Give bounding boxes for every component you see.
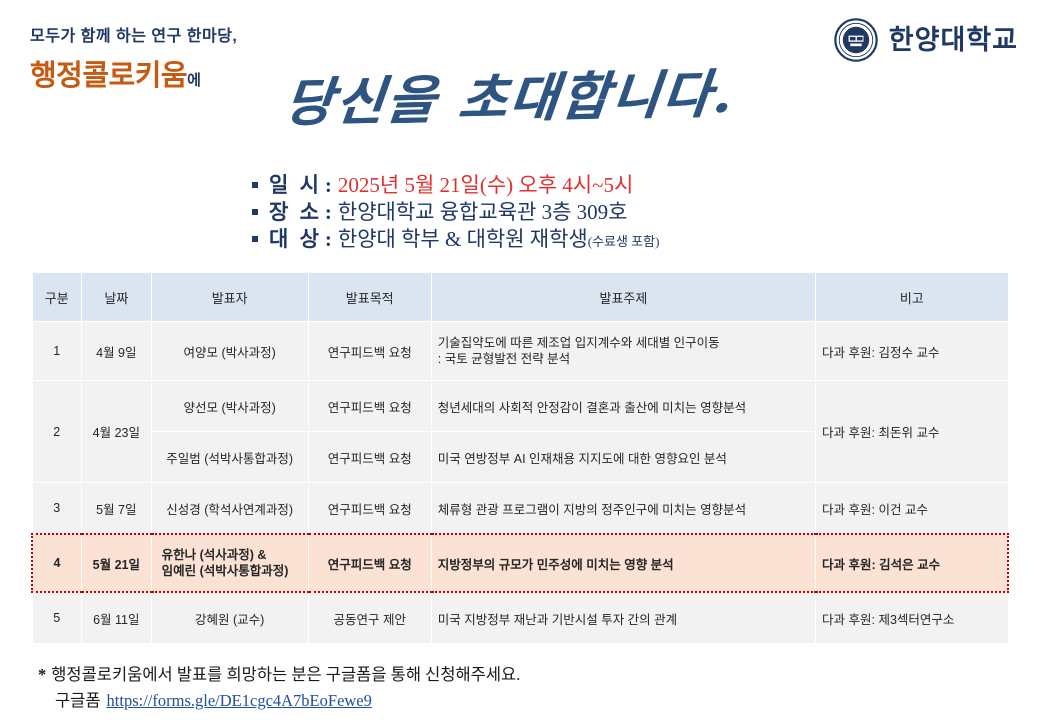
schedule-table: 구분 날짜 발표자 발표목적 발표주제 비고 1 4월 9일 여양모 (박사과정… xyxy=(31,272,1009,644)
column-header-no: 구분 xyxy=(32,273,82,322)
tagline: 모두가 함께 하는 연구 한마당, xyxy=(30,22,237,46)
detail-colon: : xyxy=(325,172,332,199)
bullet-square-icon xyxy=(252,209,258,215)
column-header-speaker: 발표자 xyxy=(151,273,308,322)
colloquium-name: 행정콜로키움 xyxy=(30,60,187,92)
cell-speaker: 여양모 (박사과정) xyxy=(151,322,308,381)
cell-date: 5월 7일 xyxy=(82,483,152,535)
detail-item-audience: 대 상 : 한양대 학부 & 대학원 재학생(수료생 포함) xyxy=(252,226,659,255)
cell-speaker-line1: 유한나 (석사과정) & xyxy=(162,547,302,563)
cell-no: 4 xyxy=(32,534,82,592)
cell-note: 다과 후원: 김정수 교수 xyxy=(816,322,1008,381)
detail-item-datetime: 일 시 : 2025년 5월 21일(수) 오후 4시~5시 xyxy=(252,172,659,199)
colloquium-title-line: 행정콜로키움에 xyxy=(30,52,201,94)
column-header-date: 날짜 xyxy=(82,273,152,322)
cell-speaker: 신성경 (학석사연계과정) xyxy=(151,483,308,535)
detail-value-audience: 한양대 학부 & 대학원 재학생 xyxy=(338,226,588,253)
cell-date: 4월 9일 xyxy=(82,322,152,381)
table-header-row: 구분 날짜 발표자 발표목적 발표주제 비고 xyxy=(32,273,1008,322)
footnote-form-line: 구글폼https://forms.gle/DE1cgc4A7bEoFewe9 xyxy=(38,688,520,714)
detail-colon: : xyxy=(325,199,332,226)
cell-purpose: 연구피드백 요청 xyxy=(308,381,431,432)
detail-label-location: 장 소 xyxy=(269,199,322,226)
detail-value-audience-note: (수료생 포함) xyxy=(588,228,660,255)
detail-value-datetime: 2025년 5월 21일(수) 오후 4시~5시 xyxy=(338,172,633,199)
cell-speaker: 주일범 (석박사통합과정) xyxy=(151,432,308,483)
cell-topic-line2: : 국토 균형발전 전략 분석 xyxy=(438,351,809,367)
table-row: 2 4월 23일 양선모 (박사과정) 연구피드백 요청 청년세대의 사회적 안… xyxy=(32,381,1008,432)
cell-topic: 체류형 관광 프로그램이 지방의 정주인구에 미치는 영향분석 xyxy=(431,483,815,535)
detail-colon: : xyxy=(325,226,332,253)
form-label: 구글폼 xyxy=(55,691,101,710)
table-body: 1 4월 9일 여양모 (박사과정) 연구피드백 요청 기술집약도에 따른 제조… xyxy=(32,322,1008,644)
cell-purpose: 공동연구 제안 xyxy=(308,592,431,644)
table-row: 3 5월 7일 신성경 (학석사연계과정) 연구피드백 요청 체류형 관광 프로… xyxy=(32,483,1008,535)
bullet-square-icon xyxy=(252,182,258,188)
cell-topic: 기술집약도에 따른 제조업 입지계수와 세대별 인구이동 : 국토 균형발전 전… xyxy=(431,322,815,381)
cell-date: 4월 23일 xyxy=(82,381,152,483)
table-row: 5 6월 11일 강혜원 (교수) 공동연구 제안 미국 지방정부 재난과 기반… xyxy=(32,592,1008,644)
google-form-link[interactable]: https://forms.gle/DE1cgc4A7bEoFewe9 xyxy=(107,691,372,710)
table-row-highlighted: 4 5월 21일 유한나 (석사과정) & 임예린 (석박사통합과정) 연구피드… xyxy=(32,534,1008,592)
cell-no: 1 xyxy=(32,322,82,381)
hanyang-seal-icon xyxy=(834,18,878,62)
cell-topic: 미국 연방정부 AI 인재채용 지지도에 대한 영향요인 분석 xyxy=(431,432,815,483)
cell-speaker-line2: 임예린 (석박사통합과정) xyxy=(162,563,302,579)
cell-topic: 청년세대의 사회적 안정감이 결혼과 출산에 미치는 영향분석 xyxy=(431,381,815,432)
cell-date: 6월 11일 xyxy=(82,592,152,644)
cell-note: 다과 후원: 제3섹터연구소 xyxy=(816,592,1008,644)
cell-note: 다과 후원: 이건 교수 xyxy=(816,483,1008,535)
cell-no: 2 xyxy=(32,381,82,483)
cell-no: 5 xyxy=(32,592,82,644)
bullet-square-icon xyxy=(252,236,258,242)
cell-purpose: 연구피드백 요청 xyxy=(308,534,431,592)
column-header-purpose: 발표목적 xyxy=(308,273,431,322)
cell-speaker: 강혜원 (교수) xyxy=(151,592,308,644)
cell-purpose: 연구피드백 요청 xyxy=(308,483,431,535)
detail-item-location: 장 소 : 한양대학교 융합교육관 3층 309호 xyxy=(252,199,659,226)
cell-speaker: 양선모 (박사과정) xyxy=(151,381,308,432)
colloquium-suffix: 에 xyxy=(187,73,201,89)
column-header-note: 비고 xyxy=(816,273,1008,322)
footnote-star: * xyxy=(38,665,46,684)
cell-purpose: 연구피드백 요청 xyxy=(308,432,431,483)
invitation-headline: 당신을 초대합니다. xyxy=(282,69,737,130)
detail-label-datetime: 일 시 xyxy=(269,172,322,199)
cell-speaker: 유한나 (석사과정) & 임예린 (석박사통합과정) xyxy=(151,534,308,592)
poster-header: 모두가 함께 하는 연구 한마당, 행정콜로키움에 한양대학교 당신을 초대합니… xyxy=(0,0,1040,165)
university-name: 한양대학교 xyxy=(889,27,1018,54)
cell-date: 5월 21일 xyxy=(82,534,152,592)
cell-topic: 미국 지방정부 재난과 기반시설 투자 간의 관계 xyxy=(431,592,815,644)
cell-note: 다과 후원: 최돈위 교수 xyxy=(816,381,1008,483)
cell-no: 3 xyxy=(32,483,82,535)
cell-topic-line1: 기술집약도에 따른 제조업 입지계수와 세대별 인구이동 xyxy=(438,335,809,351)
column-header-topic: 발표주제 xyxy=(431,273,815,322)
footnote: *행정콜로키움에서 발표를 희망하는 분은 구글폼을 통해 신청해주세요. 구글… xyxy=(38,662,520,714)
event-details-list: 일 시 : 2025년 5월 21일(수) 오후 4시~5시 장 소 : 한양대… xyxy=(252,172,659,255)
table-row: 1 4월 9일 여양모 (박사과정) 연구피드백 요청 기술집약도에 따른 제조… xyxy=(32,322,1008,381)
detail-value-location: 한양대학교 융합교육관 3층 309호 xyxy=(338,199,628,226)
cell-purpose: 연구피드백 요청 xyxy=(308,322,431,381)
university-logo: 한양대학교 xyxy=(834,18,1018,62)
cell-topic: 지방정부의 규모가 민주성에 미치는 영향 분석 xyxy=(431,534,815,592)
cell-note: 다과 후원: 김석은 교수 xyxy=(816,534,1008,592)
table-head: 구분 날짜 발표자 발표목적 발표주제 비고 xyxy=(32,273,1008,322)
detail-label-audience: 대 상 xyxy=(269,226,322,253)
footnote-text: 행정콜로키움에서 발표를 희망하는 분은 구글폼을 통해 신청해주세요. xyxy=(51,665,520,684)
